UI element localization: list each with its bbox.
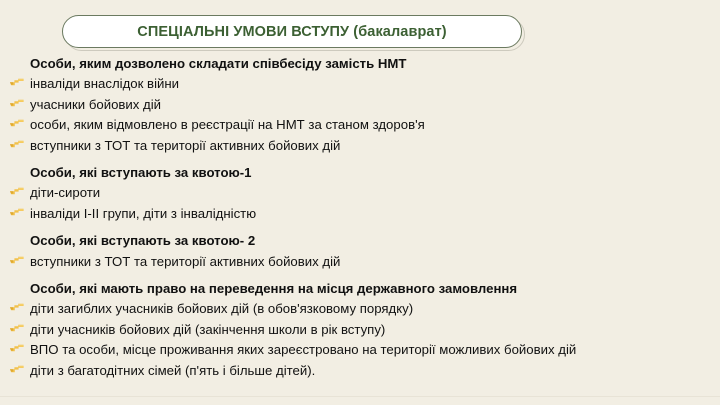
pointing-hand-icon — [0, 203, 30, 218]
content-block-4: Особи, які мають право на переведення на… — [0, 280, 720, 380]
list-item: діти-сироти — [0, 182, 720, 202]
content-area: Особи, яким дозволено складати співбесід… — [0, 55, 720, 380]
slide-title-container: СПЕЦІАЛЬНІ УМОВИ ВСТУПУ (бакалаврат) — [62, 15, 522, 48]
bottom-divider — [0, 396, 720, 397]
list-item-label: інваліди внаслідок війни — [30, 75, 179, 93]
list-item-label: вступники з ТОТ та території активних бо… — [30, 253, 340, 271]
pointing-hand-icon — [0, 135, 30, 150]
list-item-label: діти-сироти — [30, 184, 100, 202]
list-item-label: діти загиблих учасників бойових дій (в о… — [30, 300, 413, 318]
list-item-label: діти з багатодітних сімей (п'ять і більш… — [30, 362, 315, 380]
pointing-hand-icon — [0, 319, 30, 334]
list-item-label: інваліди I-II групи, діти з інвалідністю — [30, 205, 256, 223]
list-item: ВПО та особи, місце проживання яких заре… — [0, 339, 720, 359]
pointing-hand-icon — [0, 339, 30, 354]
list-item: діти з багатодітних сімей (п'ять і більш… — [0, 360, 720, 380]
list-item: діти учасників бойових дій (закінчення ш… — [0, 319, 720, 339]
content-block-3: Особи, які вступають за квотою- 2 вступн… — [0, 232, 720, 271]
pointing-hand-icon — [0, 251, 30, 266]
list-item: особи, яким відмовлено в реєстрації на Н… — [0, 114, 720, 134]
list-item-label: вступники з ТОТ та території активних бо… — [30, 137, 340, 155]
list-item-label: ВПО та особи, місце проживання яких заре… — [30, 341, 576, 359]
pointing-hand-icon — [0, 94, 30, 109]
page-title: СПЕЦІАЛЬНІ УМОВИ ВСТУПУ (бакалаврат) — [137, 24, 446, 40]
list-item-label: учасники бойових дій — [30, 96, 161, 114]
list-item: учасники бойових дій — [0, 94, 720, 114]
block-heading: Особи, які вступають за квотою-1 — [0, 164, 720, 182]
list-item-label: особи, яким відмовлено в реєстрації на Н… — [30, 116, 425, 134]
list-item: вступники з ТОТ та території активних бо… — [0, 251, 720, 271]
list-item-label: діти учасників бойових дій (закінчення ш… — [30, 321, 385, 339]
content-block-2: Особи, які вступають за квотою-1 діти-си… — [0, 164, 720, 223]
list-item: інваліди внаслідок війни — [0, 73, 720, 93]
block-heading: Особи, які мають право на переведення на… — [0, 280, 720, 298]
pointing-hand-icon — [0, 298, 30, 313]
list-item: вступники з ТОТ та території активних бо… — [0, 135, 720, 155]
list-item: діти загиблих учасників бойових дій (в о… — [0, 298, 720, 318]
pointing-hand-icon — [0, 114, 30, 129]
list-item: інваліди I-II групи, діти з інвалідністю — [0, 203, 720, 223]
title-box: СПЕЦІАЛЬНІ УМОВИ ВСТУПУ (бакалаврат) — [62, 15, 522, 48]
pointing-hand-icon — [0, 73, 30, 88]
slide-root: СПЕЦІАЛЬНІ УМОВИ ВСТУПУ (бакалаврат) Осо… — [0, 0, 720, 405]
content-block-1: Особи, яким дозволено складати співбесід… — [0, 55, 720, 155]
block-heading: Особи, яким дозволено складати співбесід… — [0, 55, 720, 73]
pointing-hand-icon — [0, 182, 30, 197]
pointing-hand-icon — [0, 360, 30, 375]
block-heading: Особи, які вступають за квотою- 2 — [0, 232, 720, 250]
